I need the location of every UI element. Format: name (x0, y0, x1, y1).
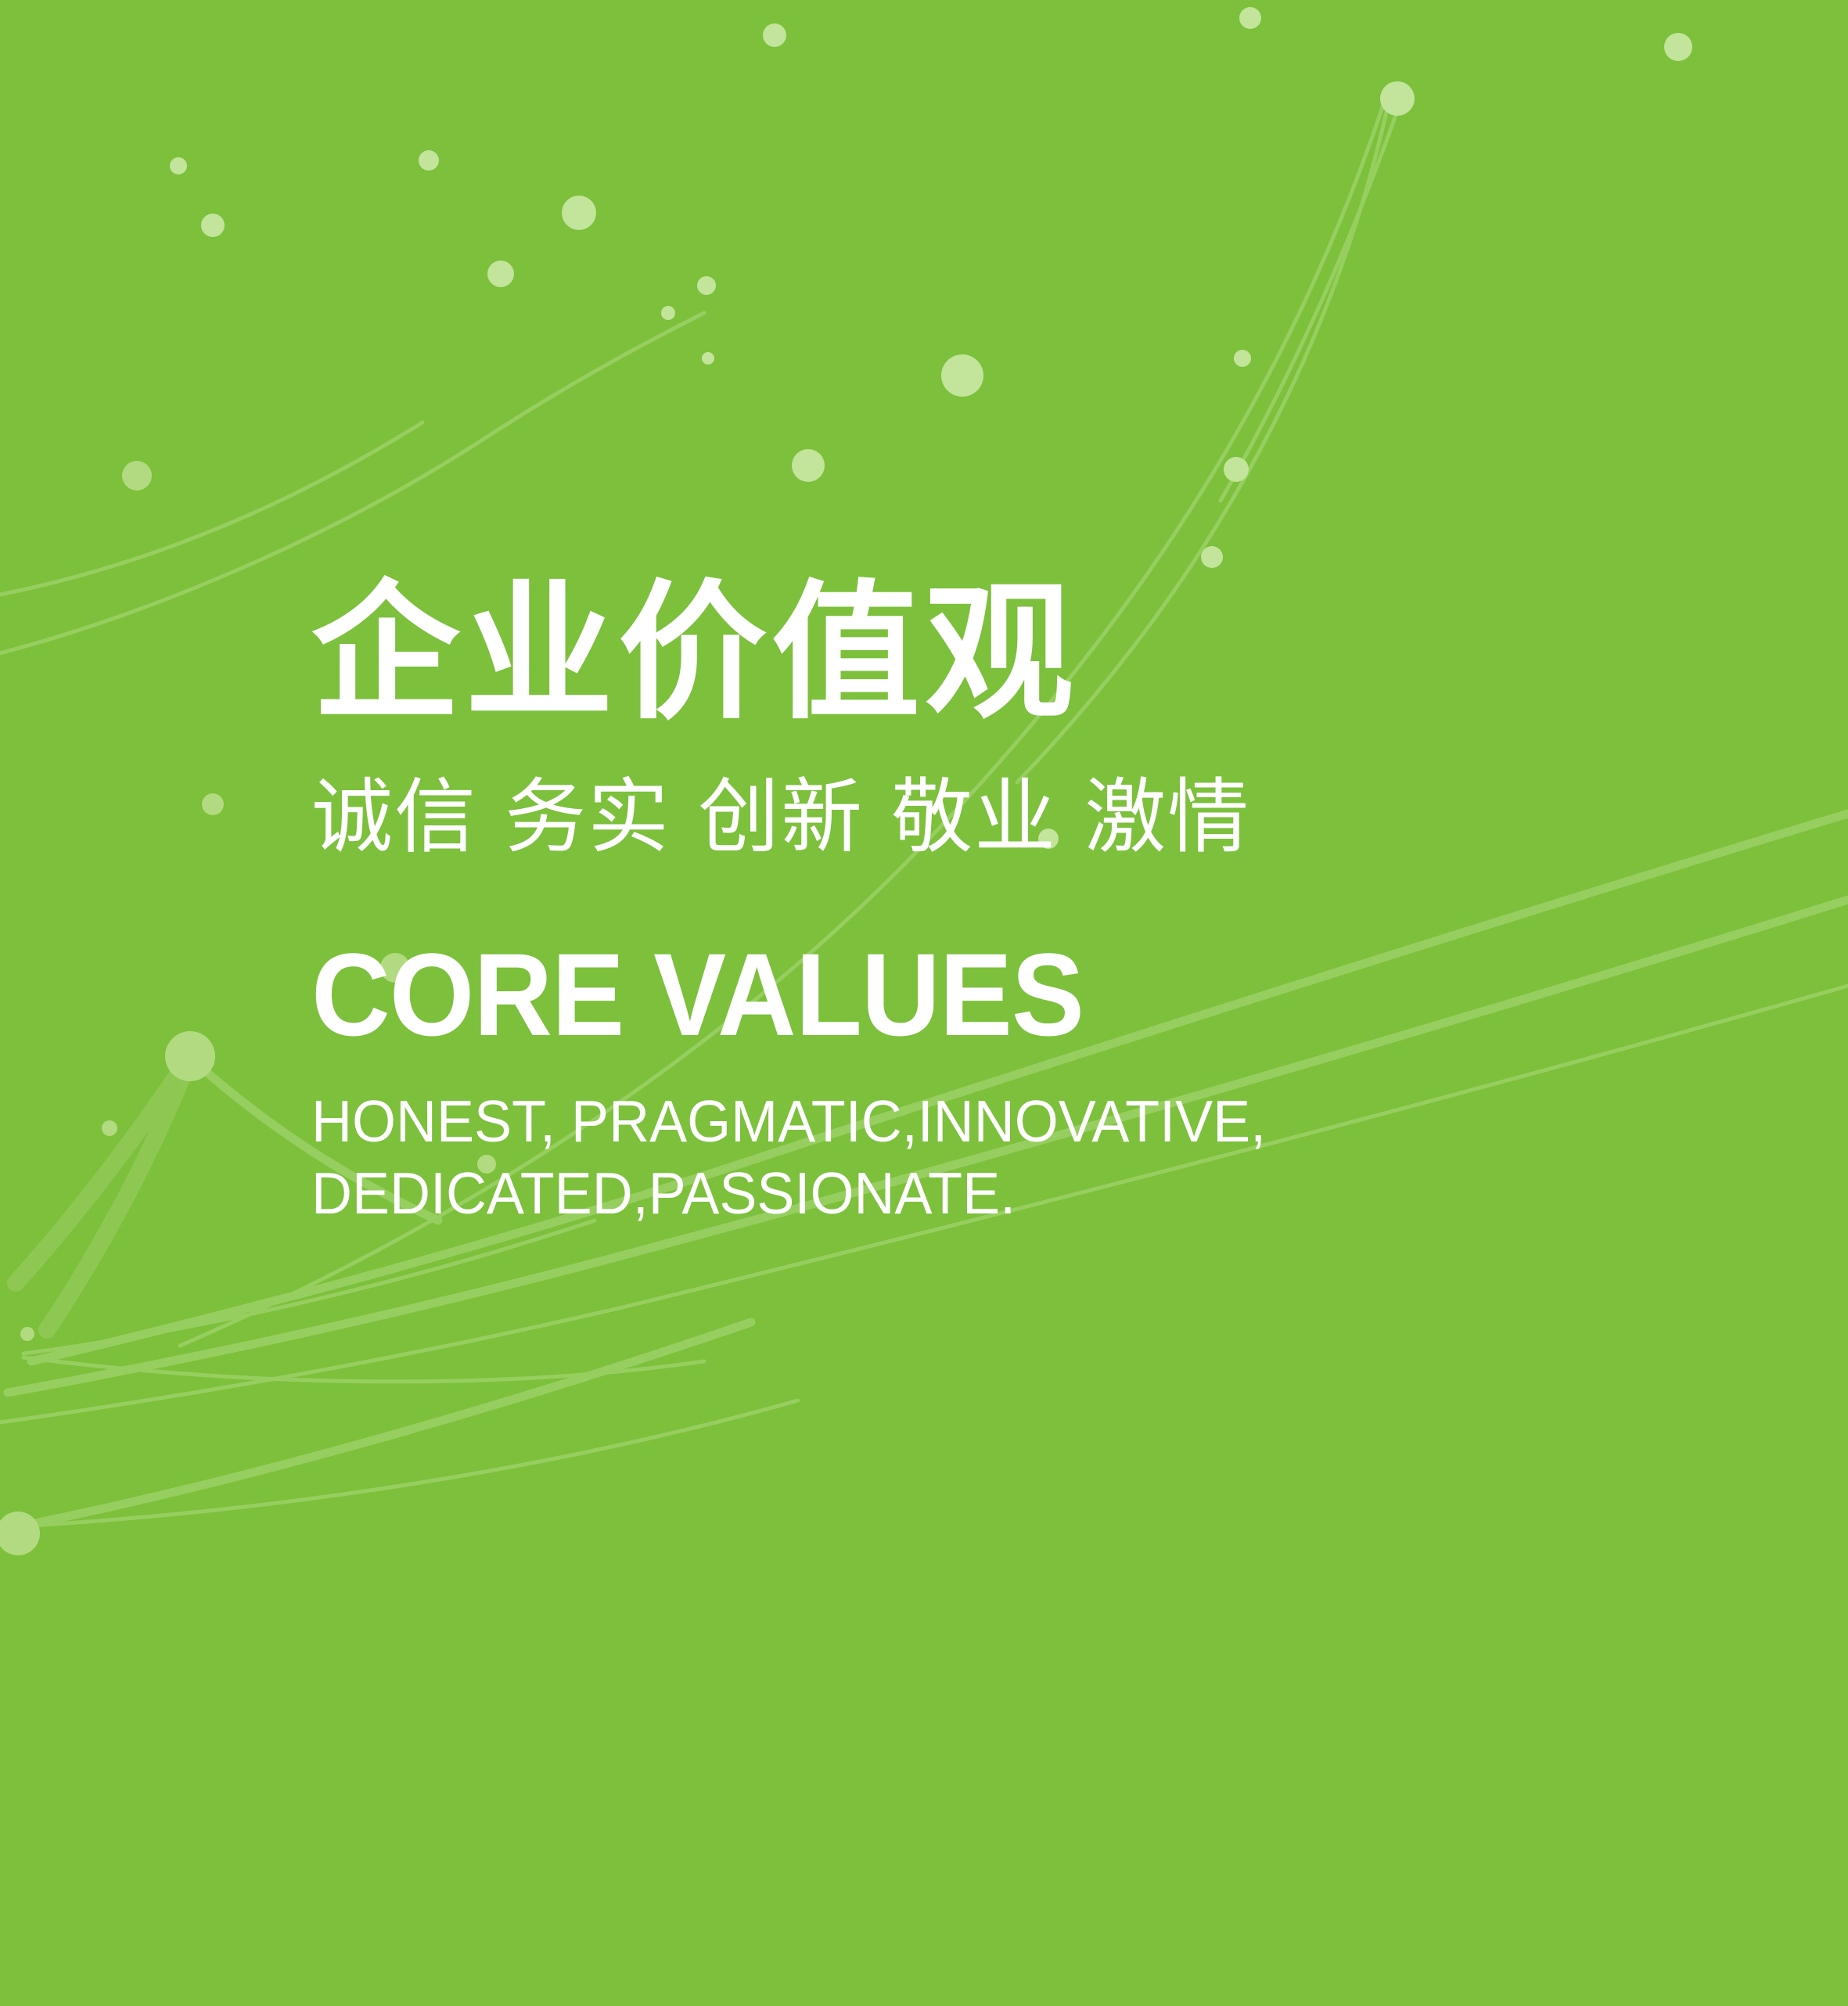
description-line-2: DEDICATED,PASSIONATE. (311, 1158, 1663, 1230)
poster-text-block: 企业价值观 诚信 务实 创新 敬业 激情 CORE VALUES HONEST,… (311, 579, 1720, 1229)
page-title-english: CORE VALUES (311, 936, 1621, 1053)
description-line-1: HONEST, PRAGMATIC,INNOVATIVE, (311, 1086, 1663, 1158)
subtitle-chinese: 诚信 务实 创新 敬业 激情 (311, 776, 1720, 857)
description-english: HONEST, PRAGMATIC,INNOVATIVE, DEDICATED,… (311, 1086, 1663, 1229)
core-values-poster: .ln { fill:none; stroke:#96cf5f; stroke-… (0, 0, 1848, 2006)
page-title-chinese: 企业价值观 (311, 579, 1720, 728)
